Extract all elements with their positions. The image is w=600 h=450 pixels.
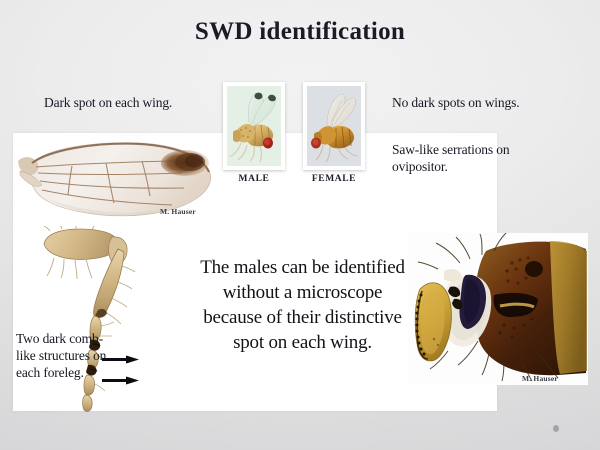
female-fly-photo bbox=[307, 86, 361, 166]
female-fly-card bbox=[303, 82, 365, 170]
annotation-comb-structures: Two dark comb-like structures on each fo… bbox=[16, 330, 112, 381]
female-card-label: FEMALE bbox=[303, 174, 365, 184]
annotation-dark-spot: Dark spot on each wing. bbox=[44, 95, 194, 112]
center-statement: The males can be identified without a mi… bbox=[200, 255, 405, 355]
corner-dot-icon bbox=[553, 425, 559, 432]
male-card-label: MALE bbox=[223, 174, 285, 184]
annotation-no-dark-spots: No dark spots on wings. bbox=[392, 95, 562, 112]
wing-photo bbox=[14, 133, 224, 233]
page-title: SWD identification bbox=[0, 18, 600, 46]
annotation-saw-like-serrations: Saw-like serrations on ovipositor. bbox=[392, 142, 567, 175]
wing-photo-credit: M. Hauser bbox=[160, 207, 196, 216]
male-fly-card bbox=[223, 82, 285, 170]
ovipositor-photo-credit: M. Hauser bbox=[522, 374, 558, 383]
male-fly-photo bbox=[227, 86, 281, 166]
slide-canvas: SWD identification bbox=[0, 0, 600, 450]
ovipositor-photo bbox=[408, 233, 588, 390]
foreleg-photo bbox=[42, 226, 152, 421]
